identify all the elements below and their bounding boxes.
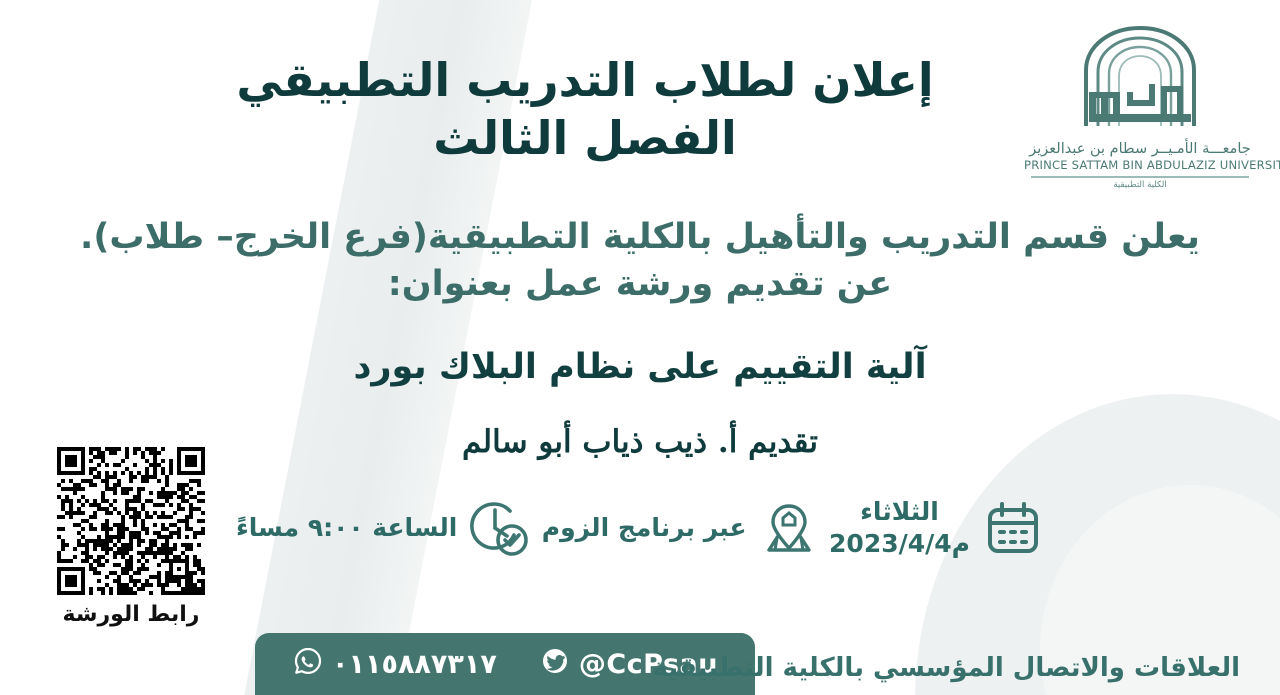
footer-department-caption: العلاقات والاتصال المؤسسي بالكلية التطبي…: [653, 653, 1240, 683]
university-logo: جامعـــة الأمـيــر سطام بن عبدالعزيز PRI…: [1024, 22, 1256, 190]
logo-divider: [1031, 176, 1249, 178]
event-time-text: الساعة ٩:٠٠ مساءً: [236, 512, 457, 545]
event-date-item: الثلاثاء 2023/4/4م: [829, 496, 1044, 561]
logo-college-label: الكلية التطبيقية: [1024, 180, 1256, 190]
twitter-icon: [539, 645, 571, 684]
intro-line-2: عن تقديم ورشة عمل بعنوان:: [16, 261, 1264, 308]
page-title-line-1: إعلان لطلاب التدريب التطبيقي: [160, 52, 1010, 110]
logo-name-arabic: جامعـــة الأمـيــر سطام بن عبدالعزيز: [1024, 141, 1256, 157]
intro-paragraph: يعلن قسم التدريب والتأهيل بالكلية التطبي…: [16, 214, 1264, 307]
whatsapp-contact[interactable]: ٠١١٥٨٨٧٣١٧: [292, 645, 497, 684]
whatsapp-number: ٠١١٥٨٨٧٣١٧: [332, 649, 497, 680]
logo-name-english: PRINCE SATTAM BIN ABDULAZIZ UNIVERSITY: [1024, 158, 1256, 172]
event-date-text: الثلاثاء 2023/4/4م: [829, 496, 970, 561]
university-arch-icon: [1077, 22, 1203, 140]
page-title-line-2: الفصل الثالث: [160, 110, 1010, 168]
workshop-title: آلية التقييم على نظام البلاك بورد: [16, 346, 1264, 388]
clock-check-icon: [469, 497, 531, 559]
event-date-value: 2023/4/4م: [829, 528, 970, 561]
qr-code-label: رابط الورشة: [52, 602, 210, 627]
event-location-text: عبر برنامج الزوم: [542, 512, 747, 545]
calendar-icon: [982, 497, 1044, 559]
intro-line-1: يعلن قسم التدريب والتأهيل بالكلية التطبي…: [16, 214, 1264, 261]
poster-canvas: جامعـــة الأمـيــر سطام بن عبدالعزيز PRI…: [0, 0, 1280, 695]
page-title: إعلان لطلاب التدريب التطبيقي الفصل الثال…: [160, 52, 1010, 168]
event-day: الثلاثاء: [829, 496, 970, 529]
event-time-item: الساعة ٩:٠٠ مساءً: [236, 497, 531, 559]
event-details-row: الثلاثاء 2023/4/4م عبر برنامج الزوم: [236, 478, 1044, 578]
event-location-item: عبر برنامج الزوم: [542, 498, 819, 558]
whatsapp-icon: [292, 645, 324, 684]
qr-code-image[interactable]: [57, 447, 205, 595]
workshop-qr-block[interactable]: رابط الورشة: [52, 447, 210, 627]
map-pin-icon: [759, 498, 819, 558]
